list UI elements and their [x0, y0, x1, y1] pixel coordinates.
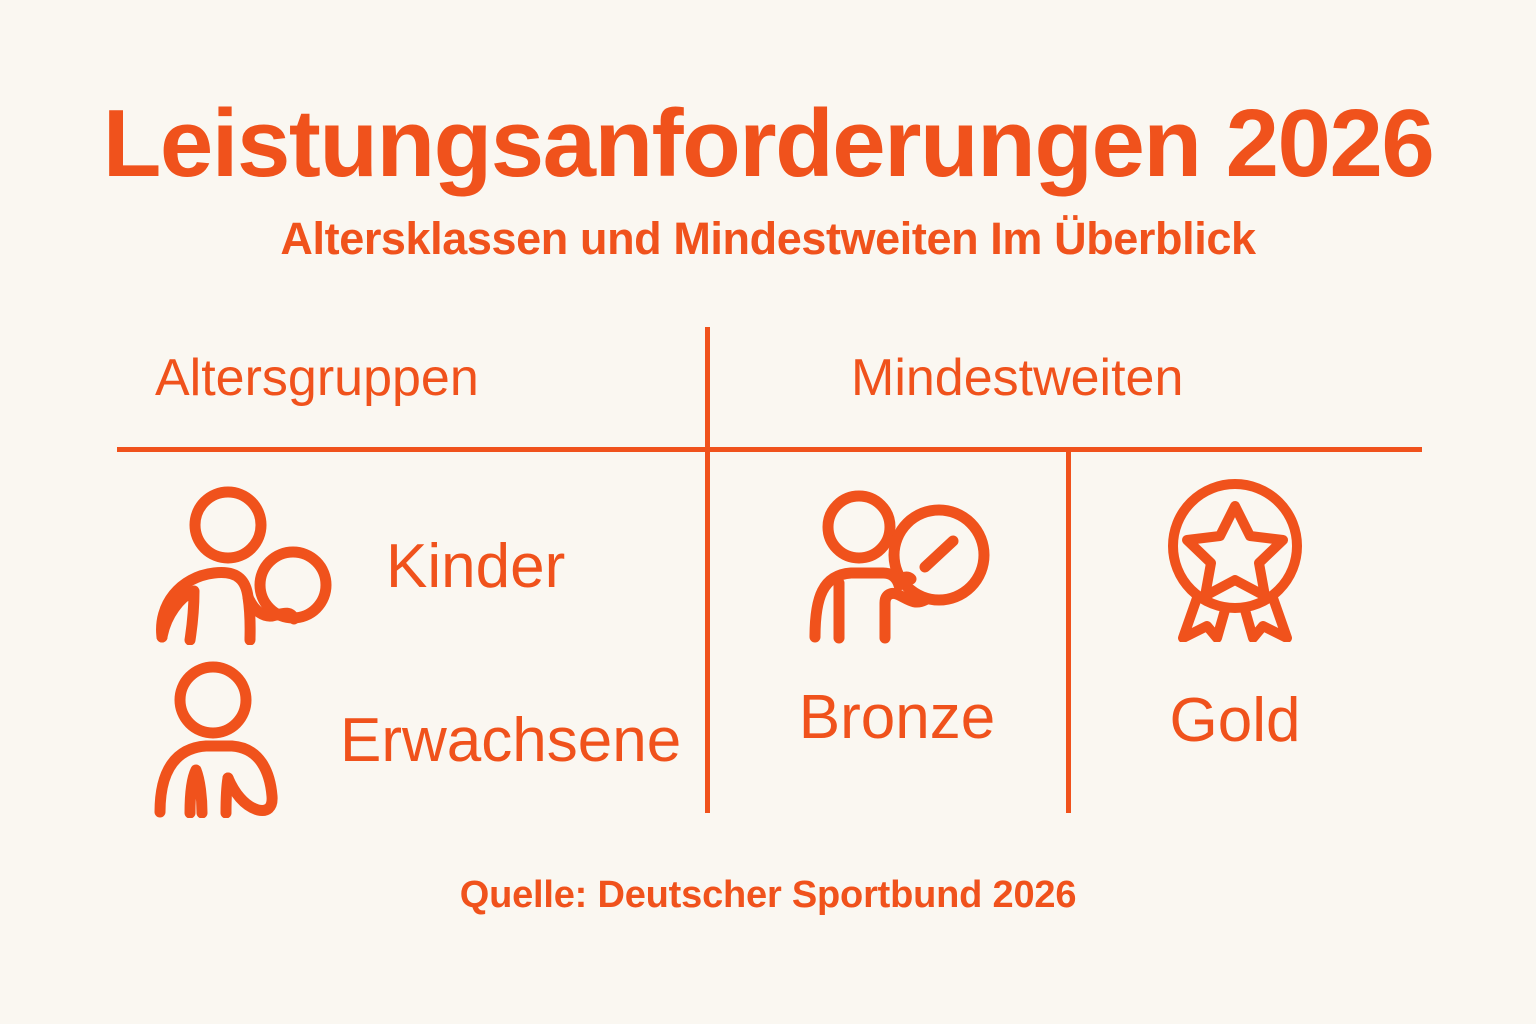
column-divider-main: [705, 327, 710, 813]
cell-label-bronze: Bronze: [799, 687, 995, 749]
header-divider-horizontal: [117, 447, 1422, 452]
column-divider-secondary: [1066, 449, 1071, 813]
child-with-ball-icon: [148, 485, 348, 645]
medal-star-icon: [1155, 470, 1315, 642]
column-header-age-groups: Altersgruppen: [155, 352, 479, 404]
cell-gold: Gold: [1140, 470, 1330, 752]
cell-label-erwachsene: Erwachsene: [340, 710, 681, 772]
cell-label-kinder: Kinder: [386, 536, 565, 598]
cell-erwachsene: Erwachsene: [148, 660, 681, 818]
page-title: Leistungsanforderungen 2026: [0, 96, 1536, 192]
thrower-with-disc-icon: [797, 485, 997, 645]
page-subtitle: Altersklassen und Mindestweiten Im Überb…: [0, 216, 1536, 261]
column-header-min-distances: Mindestweiten: [851, 352, 1183, 404]
adult-person-icon: [148, 660, 318, 818]
cell-label-gold: Gold: [1170, 690, 1301, 752]
cell-bronze: Bronze: [786, 485, 1008, 749]
cell-kinder: Kinder: [148, 485, 565, 645]
source-caption: Quelle: Deutscher Sportbund 2026: [0, 876, 1536, 914]
infographic-poster: Leistungsanforderungen 2026 Altersklasse…: [0, 0, 1536, 1024]
